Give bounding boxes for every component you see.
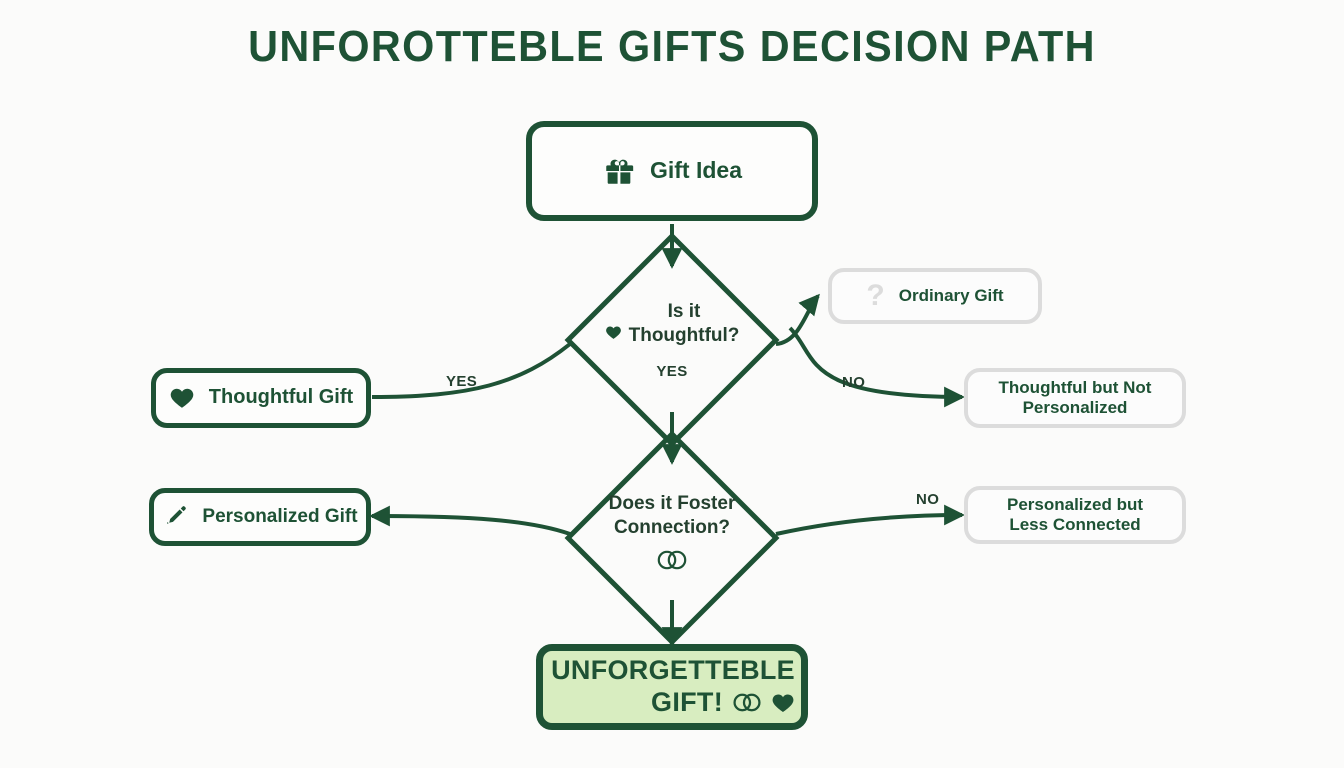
decision-connection-line2: Connection? — [614, 516, 730, 539]
node-result-line1: UNFORGETTEBLE — [543, 655, 795, 687]
node-personalized-less-connected[interactable]: Personalized but Less Connected — [964, 486, 1186, 544]
edge-label-thoughtful-no: NO — [842, 374, 865, 391]
decision-thoughtful-line2: Thoughtful? — [629, 324, 740, 347]
node-thoughtful-not-personalized-line2: Personalized — [999, 398, 1152, 418]
heart-icon — [169, 385, 195, 411]
decision-connection-line1: Does it Foster — [609, 492, 736, 515]
decision-connection-text: Does it Foster Connection? — [609, 492, 736, 538]
decision-does-it-foster-connection[interactable]: Does it Foster Connection? — [564, 462, 780, 606]
page-title: UNFOROTTEBLE GIFTS DECISION PATH — [40, 22, 1303, 72]
node-personalized-less-connected-line1: Personalized but — [1007, 495, 1143, 515]
node-personalized-gift[interactable]: Personalized Gift — [149, 488, 371, 546]
decision-thoughtful-sublabel: YES — [656, 363, 687, 380]
edge-connection-no — [776, 515, 962, 534]
edge-connection-to-personalized — [372, 516, 570, 534]
heart-icon — [605, 324, 622, 341]
node-thoughtful-not-personalized[interactable]: Thoughtful but Not Personalized — [964, 368, 1186, 428]
node-ordinary-gift[interactable]: ? Ordinary Gift — [828, 268, 1042, 324]
node-gift-idea[interactable]: Gift Idea — [526, 121, 818, 221]
node-thoughtful-gift-label: Thoughtful Gift — [209, 386, 353, 410]
decision-thoughtful-line1: Is it — [629, 300, 740, 323]
edge-thoughtful-no — [790, 328, 962, 397]
node-unforgettable-gift-result[interactable]: UNFORGETTEBLE GIFT! — [536, 644, 808, 730]
node-personalized-less-connected-line2: Less Connected — [1007, 515, 1143, 535]
node-ordinary-gift-label: Ordinary Gift — [899, 286, 1004, 306]
linked-rings-icon — [655, 549, 689, 576]
edge-thoughtful-to-ordinary — [776, 296, 818, 344]
question-mark-icon: ? — [866, 281, 884, 311]
edge-label-connection-no: NO — [916, 491, 939, 508]
node-gift-idea-label: Gift Idea — [650, 157, 742, 184]
flowchart-canvas: UNFOROTTEBLE GIFTS DECISION PATH Gift Id… — [0, 0, 1344, 768]
node-thoughtful-not-personalized-line1: Thoughtful but Not — [999, 378, 1152, 398]
decision-thoughtful-text: Is it Thoughtful? — [605, 300, 740, 346]
node-result-line2: GIFT! — [651, 687, 723, 719]
node-personalized-gift-label: Personalized Gift — [202, 506, 357, 528]
edge-label-thoughtful-yes-left: YES — [446, 373, 477, 390]
gift-icon — [602, 154, 636, 188]
pen-icon — [162, 504, 188, 530]
linked-rings-icon — [731, 692, 763, 713]
node-thoughtful-gift[interactable]: Thoughtful Gift — [151, 368, 371, 428]
decision-is-it-thoughtful[interactable]: Is it Thoughtful? YES — [564, 265, 780, 415]
heart-icon — [771, 691, 795, 715]
